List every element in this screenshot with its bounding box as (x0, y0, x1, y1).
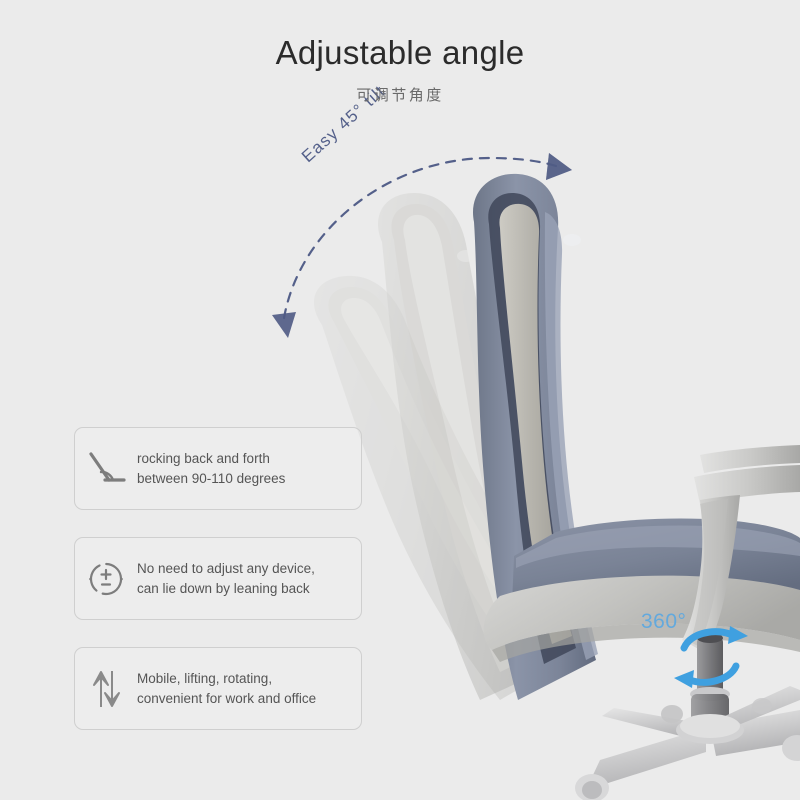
feature-card-text: rocking back and forth between 90-110 de… (137, 449, 295, 488)
plus-minus-adjust-icon (75, 559, 137, 599)
recline-angle-icon (75, 450, 137, 488)
header: Adjustable angle 可调节角度 (0, 0, 800, 105)
infographic-stage: Easy 45° tilt 360° Adjustable angle 可调节角… (0, 0, 800, 800)
feature-card-rocking: rocking back and forth between 90-110 de… (74, 427, 362, 510)
lift-up-down-arrows-icon (75, 668, 137, 710)
page-subtitle: 可调节角度 (0, 84, 800, 105)
feature-card-list: rocking back and forth between 90-110 de… (74, 427, 362, 757)
chair-base (575, 686, 800, 800)
feature-card-no-device: No need to adjust any device, can lie do… (74, 537, 362, 620)
feature-card-mobile-lifting: Mobile, lifting, rotating, convenient fo… (74, 647, 362, 730)
page-title: Adjustable angle (0, 36, 800, 69)
feature-card-text: Mobile, lifting, rotating, convenient fo… (137, 669, 326, 708)
rotation-label: 360° (641, 610, 686, 634)
feature-card-text: No need to adjust any device, can lie do… (137, 559, 325, 598)
